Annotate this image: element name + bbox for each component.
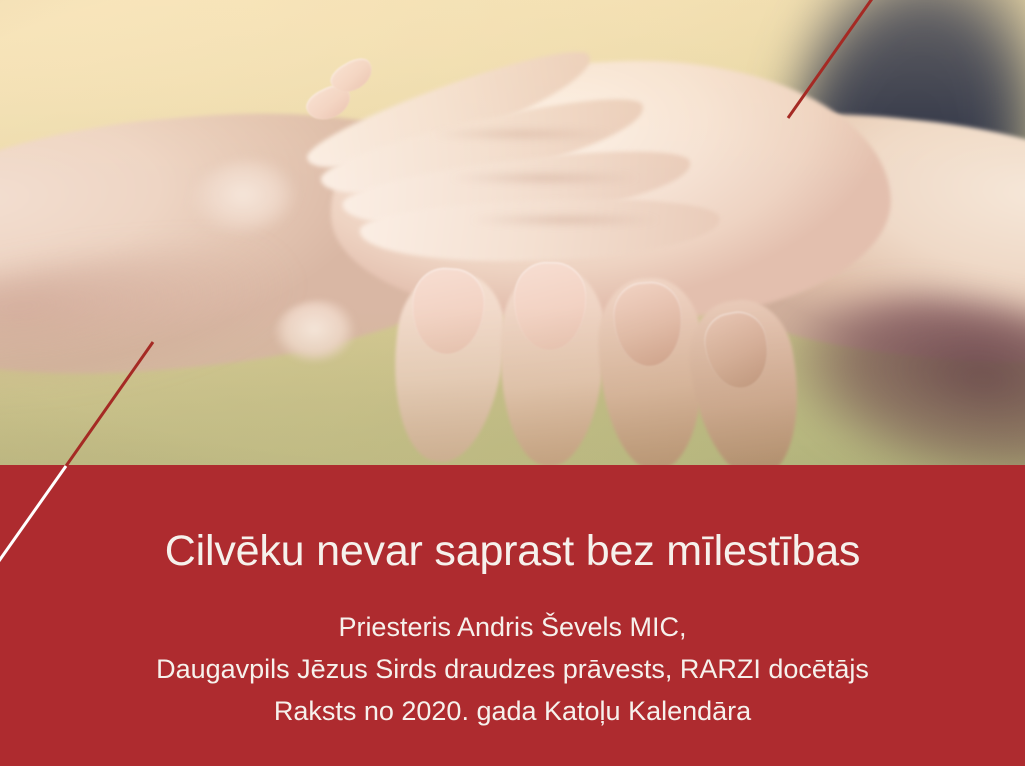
subtitle-line-source: Raksts no 2020. gada Katoļu Kalendāra xyxy=(0,690,1025,732)
finger-crease-3 xyxy=(430,212,700,228)
page-subtitle: Priesteris Andris Ševels MIC, Daugavpils… xyxy=(0,606,1025,732)
lower-hand-thumb-tip xyxy=(272,300,368,378)
page-title: Cilvēku nevar saprast bez mīlestības xyxy=(0,527,1025,575)
subtitle-line-author: Priesteris Andris Ševels MIC, xyxy=(0,606,1025,648)
left-hand-knuckle-highlight xyxy=(188,160,318,256)
clasped-hands-photo xyxy=(0,0,1025,465)
finger-crease-2 xyxy=(410,170,680,186)
subtitle-line-role: Daugavpils Jēzus Sirds draudzes prāvests… xyxy=(0,648,1025,690)
finger-crease-1 xyxy=(392,126,652,142)
slide-canvas: Cilvēku nevar saprast bez mīlestības Pri… xyxy=(0,0,1025,766)
